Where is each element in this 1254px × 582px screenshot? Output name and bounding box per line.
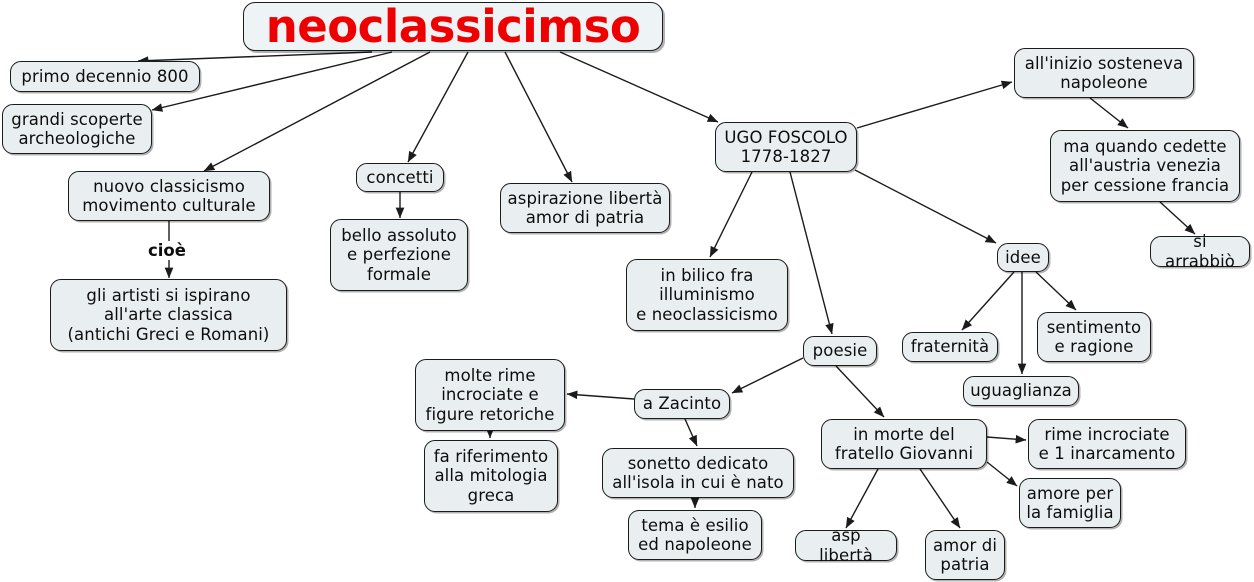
- node-uguaglianza[interactable]: uguaglianza: [963, 376, 1079, 406]
- edge-neoclassicimso-to-primo_decennio: [138, 52, 372, 61]
- node-primo_decennio[interactable]: primo decennio 800: [10, 61, 200, 92]
- node-ugo_foscolo[interactable]: UGO FOSCOLO 1778-1827: [715, 122, 857, 172]
- node-amore_famiglia[interactable]: amore per la famiglia: [1019, 478, 1121, 528]
- node-neoclassicimso[interactable]: neoclassicimso: [243, 2, 663, 51]
- edge-idee-to-sentimento: [1036, 272, 1076, 310]
- edge-poesie-to-a_zacinto: [732, 358, 803, 393]
- edge-poesie-to-in_morte: [836, 366, 884, 417]
- edge-label-cioe: cioè: [145, 241, 189, 260]
- node-a_zacinto[interactable]: a Zacinto: [634, 389, 730, 419]
- edge-neoclassicimso-to-ugo_foscolo: [560, 52, 718, 122]
- edge-ugo_foscolo-to-in_bilico: [710, 172, 752, 257]
- node-in_morte[interactable]: in morte del fratello Giovanni: [821, 419, 987, 469]
- node-molte_rime[interactable]: molte rime incrociate e figure retoriche: [415, 359, 565, 431]
- node-sonetto[interactable]: sonetto dedicato all'isola in cui è nato: [602, 448, 794, 498]
- node-aspirazione_liberta[interactable]: aspirazione libertà amor di patria: [500, 183, 670, 233]
- node-amor_patria[interactable]: amor di patria: [925, 530, 1005, 580]
- node-gli_artisti[interactable]: gli artisti si ispirano all'arte classic…: [50, 279, 287, 351]
- node-sentimento[interactable]: sentimento e ragione: [1037, 312, 1151, 362]
- edge-ugo_foscolo-to-poesie: [790, 172, 832, 334]
- edge-in_morte-to-rime_incrociate: [987, 437, 1026, 440]
- node-concetti[interactable]: concetti: [356, 163, 444, 192]
- node-si_arrabbio[interactable]: si arrabbiò: [1150, 236, 1250, 267]
- edge-in_morte-to-amore_famiglia: [987, 462, 1017, 486]
- edge-ma_quando-to-si_arrabbio: [1160, 202, 1195, 234]
- edge-neoclassicimso-to-concetti: [408, 52, 468, 162]
- node-bello_assoluto[interactable]: bello assoluto e perfezione formale: [330, 219, 468, 291]
- edge-in_morte-to-asp_liberta: [846, 469, 878, 528]
- node-ma_quando[interactable]: ma quando cedette all'austria venezia pe…: [1050, 130, 1240, 202]
- node-asp_liberta[interactable]: asp libertà: [795, 530, 897, 561]
- node-in_bilico[interactable]: in bilico fra illuminismo e neoclassicis…: [626, 259, 788, 331]
- node-rime_incrociate[interactable]: rime incrociate e 1 inarcamento: [1028, 419, 1186, 469]
- edge-neoclassicimso-to-aspirazione_liberta: [505, 52, 572, 182]
- edge-ugo_foscolo-to-allinizio: [857, 82, 1012, 128]
- edge-ugo_foscolo-to-idee: [855, 170, 996, 243]
- node-grandi_scoperte[interactable]: grandi scoperte archeologiche: [2, 104, 152, 154]
- node-poesie[interactable]: poesie: [803, 336, 877, 366]
- edge-neoclassicimso-to-nuovo_classicismo: [204, 52, 430, 171]
- node-allinizio[interactable]: all'inizio sosteneva napoleone: [1014, 48, 1194, 98]
- node-idee[interactable]: idee: [997, 243, 1049, 272]
- node-fraternita[interactable]: fraternità: [902, 332, 998, 362]
- edge-a_zacinto-to-molte_rime: [567, 394, 634, 399]
- edge-allinizio-to-ma_quando: [1090, 98, 1128, 128]
- edge-in_morte-to-amor_patria: [920, 469, 960, 528]
- concept-map-canvas: neoclassicimsoprimo decennio 800grandi s…: [0, 0, 1254, 582]
- edge-a_zacinto-to-sonetto: [685, 419, 697, 446]
- node-nuovo_classicismo[interactable]: nuovo classicismo movimento culturale: [68, 171, 270, 221]
- edge-idee-to-fraternita: [962, 272, 1014, 330]
- node-fa_riferimento[interactable]: fa riferimento alla mitologia greca: [424, 440, 558, 512]
- node-tema[interactable]: tema è esilio ed napoleone: [628, 510, 762, 560]
